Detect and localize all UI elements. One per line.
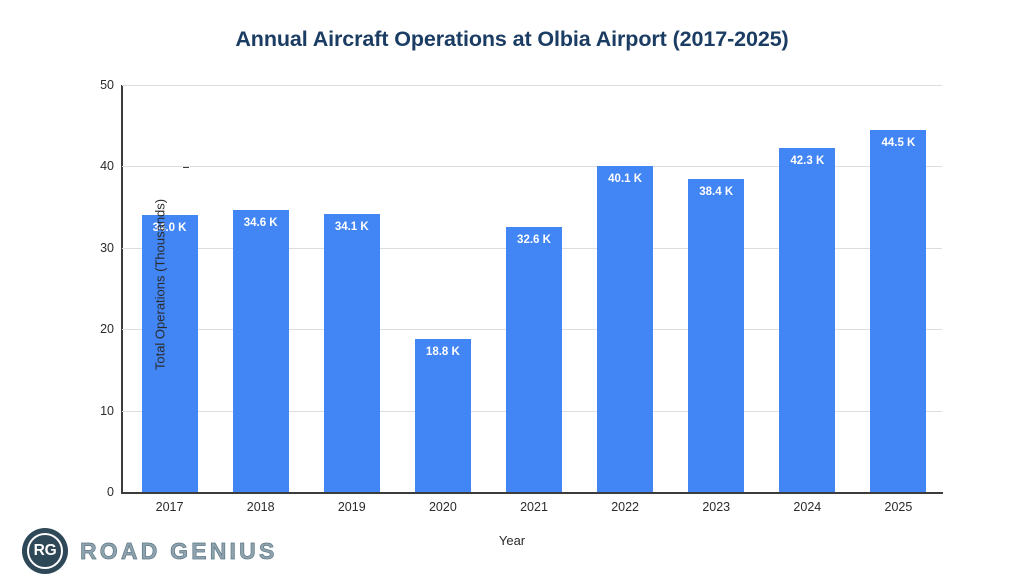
y-axis-tick-labels: 01020304050: [68, 0, 114, 582]
chart-container: Annual Aircraft Operations at Olbia Airp…: [0, 0, 1024, 582]
bar[interactable]: 40.1 K: [597, 166, 653, 492]
bar-value-label: 38.4 K: [688, 186, 744, 198]
x-axis-tick-label: 2023: [671, 500, 761, 514]
bar-value-label: 34.0 K: [142, 222, 198, 234]
bar-value-label: 32.6 K: [506, 234, 562, 246]
bar[interactable]: 34.6 K: [233, 210, 289, 492]
bar-value-label: 40.1 K: [597, 173, 653, 185]
x-axis-tick-label: 2021: [489, 500, 579, 514]
bar[interactable]: 18.8 K: [415, 339, 471, 492]
x-axis-tick-label: 2019: [307, 500, 397, 514]
bar[interactable]: 32.6 K: [506, 227, 562, 492]
bar-value-label: 34.6 K: [233, 217, 289, 229]
plot-area: 34.0 K34.6 K34.1 K18.8 K32.6 K40.1 K38.4…: [122, 85, 942, 492]
logo-monogram: RG: [34, 543, 57, 559]
x-axis-line: [121, 492, 943, 494]
logo-badge-ring: RG: [27, 533, 63, 569]
chart-title: Annual Aircraft Operations at Olbia Airp…: [0, 27, 1024, 52]
brand-logo: RG ROAD GENIUS: [22, 526, 278, 576]
bar-value-label: 18.8 K: [415, 346, 471, 358]
x-axis-tick-label: 2017: [125, 500, 215, 514]
x-axis-tick-label: 2022: [580, 500, 670, 514]
x-axis-tick-label: 2018: [216, 500, 306, 514]
gridline: [122, 85, 942, 86]
bar[interactable]: 38.4 K: [688, 179, 744, 492]
bar-value-label: 42.3 K: [779, 155, 835, 167]
y-axis-tick-label: 10: [74, 404, 114, 418]
bar[interactable]: 44.5 K: [870, 130, 926, 492]
y-axis-tick-label: 20: [74, 322, 114, 336]
bar-value-label: 44.5 K: [870, 137, 926, 149]
logo-badge-icon: RG: [22, 528, 68, 574]
x-axis-tick-label: 2025: [853, 500, 943, 514]
x-axis-tick-label: 2024: [762, 500, 852, 514]
bar[interactable]: 34.0 K: [142, 215, 198, 492]
bar[interactable]: 42.3 K: [779, 148, 835, 492]
logo-wordmark: ROAD GENIUS: [80, 540, 278, 563]
y-axis-title: Total Operations (Thousands): [153, 155, 168, 415]
bar-value-label: 34.1 K: [324, 221, 380, 233]
y-axis-tick-label: 50: [74, 78, 114, 92]
y-axis-tick-label: 30: [74, 241, 114, 255]
y-axis-tick-label: 0: [74, 485, 114, 499]
x-axis-tick-label: 2020: [398, 500, 488, 514]
bar[interactable]: 34.1 K: [324, 214, 380, 492]
y-axis-tick-label: 40: [74, 159, 114, 173]
